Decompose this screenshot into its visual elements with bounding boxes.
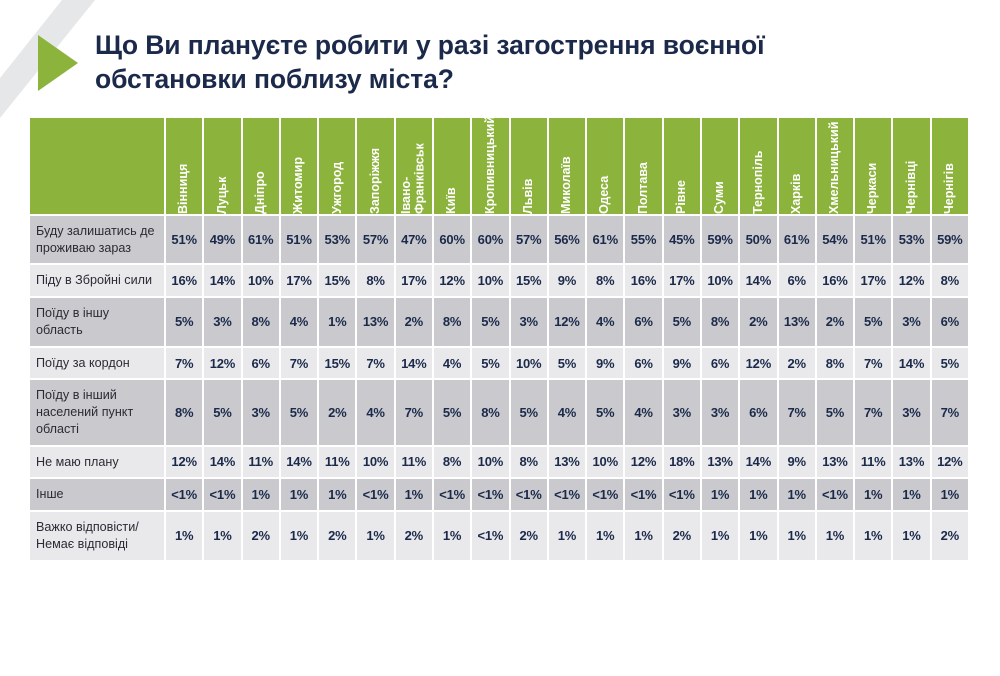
table-cell: 12% <box>204 348 242 381</box>
table-cell: 3% <box>893 298 931 347</box>
table-cell: 1% <box>166 512 204 561</box>
column-header-label: Миколаїв <box>560 124 574 214</box>
table-cell: 1% <box>281 479 319 512</box>
table-cell: 4% <box>549 380 587 446</box>
table-cell: 7% <box>396 380 434 446</box>
table-cell: 8% <box>587 265 625 298</box>
column-header-label: Дніпро <box>254 124 268 214</box>
table-cell: <1% <box>472 512 510 561</box>
table-cell: 12% <box>549 298 587 347</box>
column-header-label: Кропивницький <box>484 124 498 214</box>
table-cell: 16% <box>625 265 663 298</box>
column-header-1: Вінниця <box>166 118 204 216</box>
table-cell: 11% <box>855 447 893 480</box>
table-cell: 53% <box>893 216 931 265</box>
table-cell: 7% <box>779 380 817 446</box>
table-cell: 61% <box>243 216 281 265</box>
table-cell: 17% <box>664 265 702 298</box>
column-header-21: Чернігів <box>932 118 970 216</box>
table-cell: 5% <box>855 298 893 347</box>
table-cell: 12% <box>625 447 663 480</box>
column-header-4: Житомир <box>281 118 319 216</box>
table-cell: <1% <box>204 479 242 512</box>
table-cell: 11% <box>396 447 434 480</box>
table-cell: 8% <box>472 380 510 446</box>
table-cell: 2% <box>932 512 970 561</box>
table-cell: 9% <box>587 348 625 381</box>
table-cell: 6% <box>243 348 281 381</box>
table-cell: 1% <box>740 512 778 561</box>
table-cell: 8% <box>434 298 472 347</box>
table-cell: 2% <box>740 298 778 347</box>
table-cell: 10% <box>702 265 740 298</box>
table-cell: 1% <box>396 479 434 512</box>
table-row: Важко відповісти/Немає відповіді1%1%2%1%… <box>30 512 970 561</box>
table-cell: 10% <box>357 447 395 480</box>
table-cell: 5% <box>472 348 510 381</box>
table-cell: 7% <box>281 348 319 381</box>
table-row: Буду залишатись де проживаю зараз51%49%6… <box>30 216 970 265</box>
table-cell: 10% <box>587 447 625 480</box>
column-header-label: Одеса <box>598 124 612 214</box>
table-cell: 5% <box>511 380 549 446</box>
table-cell: 2% <box>511 512 549 561</box>
table-row: Поїду в інший населений пункт області8%5… <box>30 380 970 446</box>
column-header-label: Івано-Франківськ <box>400 124 427 214</box>
column-header-19: Черкаси <box>855 118 893 216</box>
column-header-label: Київ <box>445 124 459 214</box>
table-row: Інше<1%<1%1%1%1%<1%1%<1%<1%<1%<1%<1%<1%<… <box>30 479 970 512</box>
column-header-label: Львів <box>522 124 536 214</box>
row-label: Буду залишатись де проживаю зараз <box>30 216 166 265</box>
table-cell: 60% <box>472 216 510 265</box>
column-header-label: Ужгород <box>331 124 345 214</box>
table-cell: 12% <box>893 265 931 298</box>
row-label: Важко відповісти/Немає відповіді <box>30 512 166 561</box>
table-cell: 5% <box>817 380 855 446</box>
table-cell: 2% <box>817 298 855 347</box>
column-header-9: Кропивницький <box>472 118 510 216</box>
survey-table: ВінницяЛуцькДніпроЖитомирУжгородЗапоріжж… <box>30 118 970 562</box>
table-cell: 3% <box>702 380 740 446</box>
table-cell: 51% <box>855 216 893 265</box>
table-cell: 3% <box>511 298 549 347</box>
table-cell: 45% <box>664 216 702 265</box>
table-cell: 5% <box>472 298 510 347</box>
table-body: Буду залишатись де проживаю зараз51%49%6… <box>30 216 970 562</box>
table-cell: 8% <box>511 447 549 480</box>
table-cell: 53% <box>319 216 357 265</box>
table-cell: 8% <box>243 298 281 347</box>
table-cell: 16% <box>166 265 204 298</box>
table-cell: 1% <box>779 479 817 512</box>
column-header-20: Чернівці <box>893 118 931 216</box>
table-cell: 6% <box>740 380 778 446</box>
table-header: ВінницяЛуцькДніпроЖитомирУжгородЗапоріжж… <box>30 118 970 216</box>
table-cell: <1% <box>625 479 663 512</box>
table-cell: 1% <box>779 512 817 561</box>
table-cell: 1% <box>893 512 931 561</box>
table-cell: 57% <box>511 216 549 265</box>
table-cell: 9% <box>664 348 702 381</box>
column-header-label: Вінниця <box>177 124 191 214</box>
table-cell: 8% <box>357 265 395 298</box>
table-cell: 51% <box>166 216 204 265</box>
table-cell: 8% <box>817 348 855 381</box>
table-cell: 4% <box>625 380 663 446</box>
column-header-15: Суми <box>702 118 740 216</box>
column-header-label: Хмельницький <box>828 124 842 214</box>
table-cell: <1% <box>472 479 510 512</box>
table-cell: 1% <box>319 479 357 512</box>
table-cell: 1% <box>893 479 931 512</box>
table-cell: 8% <box>702 298 740 347</box>
table-cell: 2% <box>243 512 281 561</box>
table-cell: 14% <box>204 265 242 298</box>
table-row: Поїду за кордон7%12%6%7%15%7%14%4%5%10%5… <box>30 348 970 381</box>
column-header-7: Івано-Франківськ <box>396 118 434 216</box>
table-cell: 14% <box>740 447 778 480</box>
table-cell: 18% <box>664 447 702 480</box>
table-cell: 13% <box>357 298 395 347</box>
table-cell: <1% <box>664 479 702 512</box>
row-label: Поїду в іншу область <box>30 298 166 347</box>
row-label: Піду в Збройні сили <box>30 265 166 298</box>
column-header-6: Запоріжжя <box>357 118 395 216</box>
table-cell: 4% <box>357 380 395 446</box>
table-cell: 17% <box>281 265 319 298</box>
table-cell: 17% <box>855 265 893 298</box>
table-cell: 11% <box>243 447 281 480</box>
table-cell: 13% <box>549 447 587 480</box>
table-cell: 61% <box>587 216 625 265</box>
table-cell: 6% <box>625 348 663 381</box>
column-header-12: Одеса <box>587 118 625 216</box>
column-header-label: Полтава <box>637 124 651 214</box>
table-cell: 16% <box>817 265 855 298</box>
table-cell: 1% <box>817 512 855 561</box>
table-cell: 14% <box>396 348 434 381</box>
table-cell: 3% <box>893 380 931 446</box>
table-cell: 6% <box>702 348 740 381</box>
column-header-label: Тернопіль <box>752 124 766 214</box>
table-cell: 14% <box>893 348 931 381</box>
table-cell: <1% <box>357 479 395 512</box>
row-label: Поїду в інший населений пункт області <box>30 380 166 446</box>
table-cell: 7% <box>932 380 970 446</box>
column-header-2: Луцьк <box>204 118 242 216</box>
table-cell: 1% <box>702 512 740 561</box>
table-cell: 1% <box>319 298 357 347</box>
table-cell: <1% <box>166 479 204 512</box>
table-cell: 10% <box>243 265 281 298</box>
table-cell: <1% <box>549 479 587 512</box>
table-cell: <1% <box>817 479 855 512</box>
table-cell: 5% <box>587 380 625 446</box>
table-cell: 1% <box>243 479 281 512</box>
table-cell: 6% <box>625 298 663 347</box>
table-cell: 1% <box>281 512 319 561</box>
table-cell: 13% <box>779 298 817 347</box>
table-cell: 60% <box>434 216 472 265</box>
table-cell: 2% <box>664 512 702 561</box>
table-cell: 55% <box>625 216 663 265</box>
table-cell: 1% <box>587 512 625 561</box>
column-header-16: Тернопіль <box>740 118 778 216</box>
table-cell: 12% <box>434 265 472 298</box>
table-cell: 12% <box>166 447 204 480</box>
table-cell: 13% <box>817 447 855 480</box>
column-header-label: Черкаси <box>866 124 880 214</box>
table-cell: 8% <box>434 447 472 480</box>
table-cell: 1% <box>204 512 242 561</box>
table-cell: 2% <box>319 512 357 561</box>
table-row: Не маю плану12%14%11%14%11%10%11%8%10%8%… <box>30 447 970 480</box>
table-cell: 51% <box>281 216 319 265</box>
table-cell: 11% <box>319 447 357 480</box>
table-cell: 59% <box>932 216 970 265</box>
column-header-8: Київ <box>434 118 472 216</box>
table-cell: 1% <box>434 512 472 561</box>
table-cell: 9% <box>549 265 587 298</box>
table-cell: 5% <box>549 348 587 381</box>
table-cell: 5% <box>932 348 970 381</box>
table-cell: <1% <box>511 479 549 512</box>
table-cell: 10% <box>472 265 510 298</box>
row-label: Не маю плану <box>30 447 166 480</box>
table-cell: 8% <box>932 265 970 298</box>
play-triangle-icon <box>38 35 78 91</box>
table-cell: 1% <box>740 479 778 512</box>
table-cell: 1% <box>855 479 893 512</box>
column-header-label: Запоріжжя <box>369 124 383 214</box>
table-cell: 3% <box>664 380 702 446</box>
column-header-label: Луцьк <box>216 124 230 214</box>
table-cell: 2% <box>396 512 434 561</box>
column-header-label: Чернігів <box>943 124 957 214</box>
row-label: Інше <box>30 479 166 512</box>
table-cell: 15% <box>319 348 357 381</box>
table-cell: 14% <box>204 447 242 480</box>
table-cell: 3% <box>204 298 242 347</box>
column-header-label: Чернівці <box>905 124 919 214</box>
table-cell: 5% <box>166 298 204 347</box>
table-cell: 10% <box>511 348 549 381</box>
table-cell: 1% <box>625 512 663 561</box>
table-cell: 7% <box>855 348 893 381</box>
table-cell: 47% <box>396 216 434 265</box>
column-header-17: Харків <box>779 118 817 216</box>
table-cell: 54% <box>817 216 855 265</box>
column-header-label: Суми <box>713 124 727 214</box>
table-cell: 5% <box>281 380 319 446</box>
table-cell: 8% <box>166 380 204 446</box>
page-title-line-2: обстановки поблизу міста? <box>95 62 895 96</box>
table-cell: 2% <box>319 380 357 446</box>
column-header-18: Хмельницький <box>817 118 855 216</box>
table-cell: <1% <box>434 479 472 512</box>
table-cell: 7% <box>855 380 893 446</box>
column-header-3: Дніпро <box>243 118 281 216</box>
table-cell: 6% <box>932 298 970 347</box>
table-cell: 13% <box>702 447 740 480</box>
table-cell: 4% <box>587 298 625 347</box>
table-cell: 10% <box>472 447 510 480</box>
table-cell: 57% <box>357 216 395 265</box>
table-cell: 1% <box>702 479 740 512</box>
table-cell: 61% <box>779 216 817 265</box>
table-row: Піду в Збройні сили16%14%10%17%15%8%17%1… <box>30 265 970 298</box>
row-label: Поїду за кордон <box>30 348 166 381</box>
table-cell: 1% <box>549 512 587 561</box>
table-cell: 7% <box>166 348 204 381</box>
header-corner-cell <box>30 118 166 216</box>
table-cell: <1% <box>587 479 625 512</box>
table-cell: 49% <box>204 216 242 265</box>
page-title-line-1: Що Ви плануєте робити у разі загострення… <box>95 28 895 62</box>
table-cell: 59% <box>702 216 740 265</box>
table-cell: 5% <box>204 380 242 446</box>
table-cell: 7% <box>357 348 395 381</box>
column-header-11: Миколаїв <box>549 118 587 216</box>
survey-table-container: ВінницяЛуцькДніпроЖитомирУжгородЗапоріжж… <box>30 118 970 562</box>
table-header-row: ВінницяЛуцькДніпроЖитомирУжгородЗапоріжж… <box>30 118 970 216</box>
column-header-14: Рівне <box>664 118 702 216</box>
table-cell: 9% <box>779 447 817 480</box>
table-cell: 5% <box>664 298 702 347</box>
table-cell: 17% <box>396 265 434 298</box>
table-cell: 1% <box>357 512 395 561</box>
table-cell: 15% <box>319 265 357 298</box>
table-cell: 2% <box>779 348 817 381</box>
table-cell: 12% <box>740 348 778 381</box>
table-cell: 2% <box>396 298 434 347</box>
column-header-label: Рівне <box>675 124 689 214</box>
table-cell: 4% <box>281 298 319 347</box>
page-title: Що Ви плануєте робити у разі загострення… <box>95 28 895 97</box>
table-cell: 14% <box>281 447 319 480</box>
table-cell: 1% <box>932 479 970 512</box>
column-header-13: Полтава <box>625 118 663 216</box>
column-header-label: Житомир <box>292 124 306 214</box>
column-header-5: Ужгород <box>319 118 357 216</box>
table-cell: 15% <box>511 265 549 298</box>
table-cell: 56% <box>549 216 587 265</box>
table-cell: 1% <box>855 512 893 561</box>
table-cell: 3% <box>243 380 281 446</box>
table-cell: 4% <box>434 348 472 381</box>
table-cell: 50% <box>740 216 778 265</box>
table-cell: 5% <box>434 380 472 446</box>
column-header-10: Львів <box>511 118 549 216</box>
table-cell: 14% <box>740 265 778 298</box>
table-row: Поїду в іншу область5%3%8%4%1%13%2%8%5%3… <box>30 298 970 347</box>
table-cell: 12% <box>932 447 970 480</box>
table-cell: 13% <box>893 447 931 480</box>
table-cell: 6% <box>779 265 817 298</box>
column-header-label: Харків <box>790 124 804 214</box>
